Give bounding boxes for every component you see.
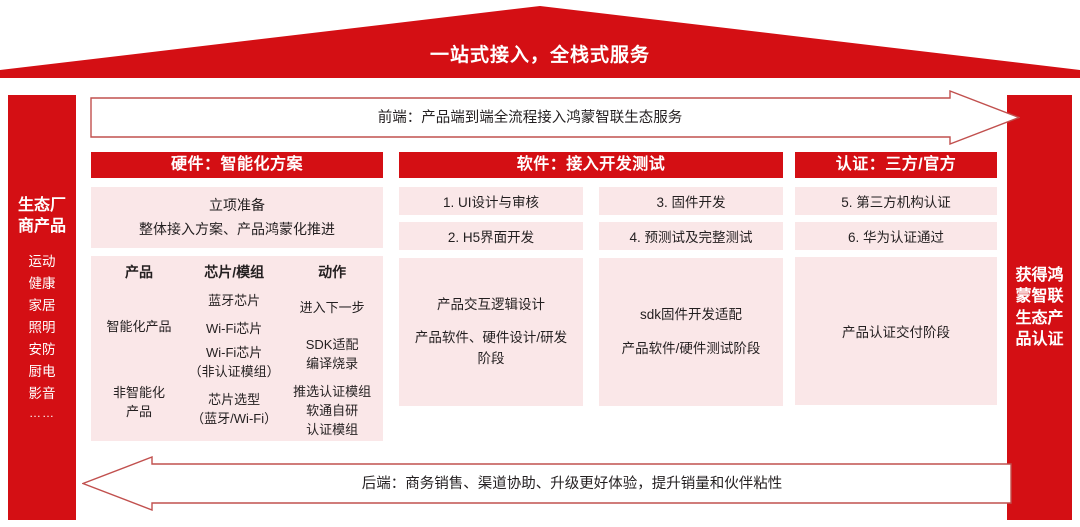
left-pillar-item-ellipsis: ……	[8, 404, 76, 423]
software-step-3: 3. 固件开发	[599, 187, 783, 215]
software-steps-left: 1. UI设计与审核 2. H5界面开发	[399, 187, 583, 257]
software-detail-design-line1: 产品交互逻辑设计	[437, 295, 545, 315]
hardware-col-header-action: 动作	[285, 262, 379, 287]
software-detail-design: 产品交互逻辑设计 产品软件、硬件设计/研发阶段	[399, 258, 583, 406]
hardware-chip-wifi-uncertified: Wi-Fi芯片 （非认证模组）	[183, 343, 285, 383]
front-end-arrow-label: 前端：产品端到端全流程接入鸿蒙智联生态服务	[90, 106, 970, 127]
right-pillar: 获得鸿蒙智联生态产品认证	[1007, 95, 1072, 520]
left-pillar: 生态厂商产品 运动 健康 家居 照明 安防 厨电 影音 ……	[8, 95, 76, 520]
hardware-action-isoftstone-module: 软通自研 认证模组	[285, 405, 379, 437]
software-step-2: 2. H5界面开发	[399, 222, 583, 250]
hardware-col-header-product: 产品	[95, 262, 183, 287]
column-software: 软件：接入开发测试 1. UI设计与审核 2. H5界面开发 3. 固件开发 4…	[399, 152, 783, 406]
certification-step-5: 5. 第三方机构认证	[795, 187, 997, 215]
certification-detail: 产品认证交付阶段	[795, 257, 997, 405]
column-hardware-header: 硬件：智能化方案	[91, 152, 383, 178]
hardware-chip-wifi-uncertified-line1: Wi-Fi芯片	[206, 344, 262, 363]
column-hardware: 硬件：智能化方案 立项准备 整体接入方案、产品鸿蒙化推进 产品 芯片/模组 动作…	[91, 152, 383, 441]
left-pillar-item: 影音	[8, 383, 76, 405]
back-end-arrow: 后端：商务销售、渠道协助、升级更好体验，提升销量和伙伴粘性	[82, 456, 1012, 511]
hardware-chip-selection-line2: （蓝牙/Wi-Fi）	[191, 410, 277, 429]
hardware-action-isoftstone-line1: 软通自研	[306, 402, 358, 421]
left-pillar-item: 安防	[8, 339, 76, 361]
left-pillar-item: 家居	[8, 295, 76, 317]
hardware-prep-line1: 立项准备	[209, 194, 265, 217]
hardware-action-isoftstone-line2: 认证模组	[306, 421, 358, 440]
hardware-chip-wifi-uncertified-line2: （非认证模组）	[189, 363, 280, 382]
hardware-chip-bluetooth: 蓝牙芯片	[183, 287, 285, 317]
hardware-action-sdk-line2: 编译烧录	[306, 355, 358, 374]
software-detail-sdk-line1: sdk固件开发适配	[640, 305, 742, 325]
hardware-col-header-chip: 芯片/模组	[183, 262, 285, 287]
banner-roof: 一站式接入，全栈式服务	[0, 0, 1080, 78]
hardware-product-nonsmart-line2: 产品	[126, 403, 152, 422]
right-pillar-title: 获得鸿蒙智联生态产品认证	[1014, 265, 1066, 349]
hardware-actions-column: 进入下一步 SDK适配 编译烧录 推选认证模组 软通自研 认证模组	[285, 287, 379, 437]
hardware-product-nonsmart-line1: 非智能化	[113, 384, 165, 403]
hardware-product-nonsmart: 非智能化 产品	[95, 369, 183, 437]
software-steps-right: 3. 固件开发 4. 预测试及完整测试	[599, 187, 783, 257]
hardware-table-body: 智能化产品 非智能化 产品 蓝牙芯片 Wi-Fi芯片 Wi-Fi芯片 （非认证模…	[95, 287, 379, 437]
hardware-chips-column: 蓝牙芯片 Wi-Fi芯片 Wi-Fi芯片 （非认证模组） 芯片选型 （蓝牙/Wi…	[183, 287, 285, 437]
hardware-action-sdk-line1: SDK适配	[306, 336, 359, 355]
banner-title: 一站式接入，全栈式服务	[0, 40, 1080, 67]
left-pillar-item: 照明	[8, 317, 76, 339]
hardware-chip-selection: 芯片选型 （蓝牙/Wi-Fi）	[183, 383, 285, 437]
hardware-preparation-box: 立项准备 整体接入方案、产品鸿蒙化推进	[91, 187, 383, 248]
hardware-prep-line2: 整体接入方案、产品鸿蒙化推进	[139, 218, 335, 241]
column-software-header: 软件：接入开发测试	[399, 152, 783, 178]
hardware-action-recommend-module: 推选认证模组	[285, 379, 379, 405]
hardware-chip-selection-line1: 芯片选型	[208, 391, 260, 410]
left-pillar-item: 厨电	[8, 361, 76, 383]
left-pillar-item: 运动	[8, 251, 76, 273]
left-pillar-item: 健康	[8, 273, 76, 295]
software-steps-row: 1. UI设计与审核 2. H5界面开发 3. 固件开发 4. 预测试及完整测试	[399, 187, 783, 257]
left-pillar-list: 运动 健康 家居 照明 安防 厨电 影音 ……	[8, 251, 76, 423]
certification-step-6: 6. 华为认证通过	[795, 222, 997, 250]
software-detail-design-line2: 产品软件、硬件设计/研发阶段	[409, 328, 573, 369]
hardware-chip-wifi: Wi-Fi芯片	[183, 317, 285, 343]
back-end-arrow-label: 后端：商务销售、渠道协助、升级更好体验，提升销量和伙伴粘性	[132, 472, 1012, 493]
hardware-products-column: 智能化产品 非智能化 产品	[95, 287, 183, 437]
hardware-action-sdk: SDK适配 编译烧录	[285, 330, 379, 379]
left-pillar-title: 生态厂商产品	[16, 195, 68, 237]
hardware-table: 产品 芯片/模组 动作 智能化产品 非智能化 产品 蓝牙芯片 Wi-Fi芯片 W…	[91, 256, 383, 441]
hardware-action-next-step: 进入下一步	[285, 287, 379, 330]
software-detail-sdk-line2: 产品软件/硬件测试阶段	[622, 339, 761, 359]
software-detail-row: 产品交互逻辑设计 产品软件、硬件设计/研发阶段 sdk固件开发适配 产品软件/硬…	[399, 258, 783, 406]
software-step-4: 4. 预测试及完整测试	[599, 222, 783, 250]
front-end-arrow: 前端：产品端到端全流程接入鸿蒙智联生态服务	[90, 90, 1020, 145]
software-step-1: 1. UI设计与审核	[399, 187, 583, 215]
column-certification-header: 认证：三方/官方	[795, 152, 997, 178]
hardware-table-header-row: 产品 芯片/模组 动作	[95, 262, 379, 287]
software-detail-sdk: sdk固件开发适配 产品软件/硬件测试阶段	[599, 258, 783, 406]
column-certification: 认证：三方/官方 5. 第三方机构认证 6. 华为认证通过 产品认证交付阶段	[795, 152, 997, 405]
hardware-product-smart: 智能化产品	[95, 287, 183, 369]
